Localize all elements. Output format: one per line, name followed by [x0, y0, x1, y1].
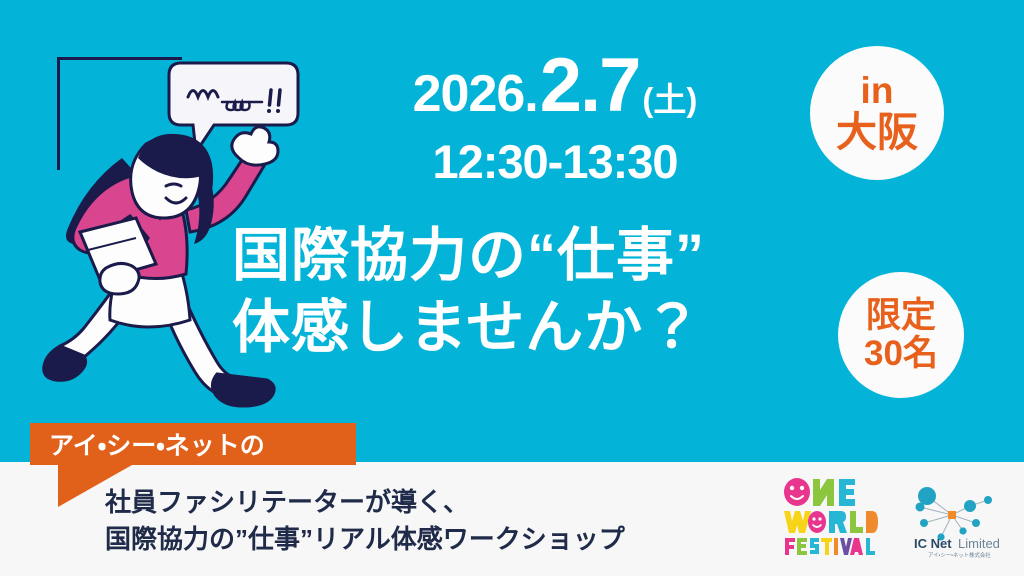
owf-line-festival: [785, 538, 875, 555]
badge-location-line-2: 大阪: [836, 111, 918, 154]
ic-net-subtitle: アイ・シー・ネット株式会社: [928, 551, 991, 559]
date-day: 2.7: [540, 48, 640, 124]
ic-net-wordmark-light: Limited: [958, 536, 1000, 551]
date-line: 2026. 2.7 (土): [330, 48, 780, 124]
date-weekday: (土): [642, 83, 697, 116]
lead-copy: 社員ファシリテーターが導く、 国際協力の”仕事”リアル体感ワークショップ: [105, 484, 625, 558]
page-title: 国際協力の“仕事” 体感しませんか？: [232, 222, 832, 363]
front-shoe-icon: [212, 374, 274, 406]
headline-line-1: 国際協力の“仕事”: [232, 222, 832, 290]
brand-ribbon: アイ・シー・ネットの: [30, 423, 356, 465]
poster-canvas: 2026. 2.7 (土) 12:30-13:30 国際協力の“仕事” 体感しま…: [0, 0, 1024, 576]
badge-location: in 大阪: [810, 46, 944, 180]
badge-capacity-line-1: 限定: [866, 298, 936, 334]
node-large: [918, 487, 936, 505]
badge-location-line-1: in: [861, 72, 894, 110]
owf-line-world: [784, 511, 878, 533]
lead-line-2: 国際協力の”仕事”リアル体感ワークショップ: [105, 521, 625, 558]
brand-ribbon-label: アイ・シー・ネットの: [30, 426, 265, 462]
badge-capacity-line-2: 30名: [864, 336, 938, 372]
owf-line-one: [784, 478, 855, 506]
date-year: 2026.: [413, 68, 538, 120]
headline-line-2: 体感しませんか？: [232, 294, 832, 362]
ic-net-wordmark-bold: IC Net: [914, 536, 952, 551]
event-time: 12:30-13:30: [330, 138, 780, 185]
one-world-festival-logo: [782, 477, 878, 555]
brand-ribbon-tail: [58, 465, 132, 507]
event-date-block: 2026. 2.7 (土) 12:30-13:30: [330, 48, 780, 185]
node-hub: [948, 511, 956, 519]
fist: [232, 127, 278, 165]
ic-net-logo: IC Net Limited アイ・シー・ネット株式会社: [900, 478, 1012, 560]
hand: [100, 263, 139, 294]
badge-capacity: 限定 30名: [838, 272, 964, 398]
lead-line-1: 社員ファシリテーターが導く、: [105, 484, 625, 521]
